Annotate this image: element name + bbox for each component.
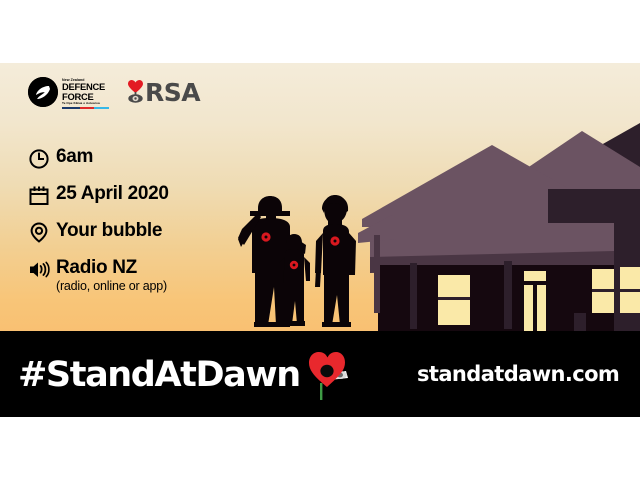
- info-label-location: Your bubble: [56, 220, 162, 241]
- poster: New Zealand DEFENCE FORCE Te Ope Kātua o…: [0, 63, 640, 417]
- speaker-icon: [28, 257, 54, 285]
- nz-defence-force-logo: New Zealand DEFENCE FORCE Te Ope Kātua o…: [28, 77, 109, 109]
- info-label-broadcast: Radio NZ: [56, 257, 167, 278]
- bottom-banner: #StandAtDawn standatdawn.com: [0, 335, 640, 417]
- event-details-list: 6am 25 April 2020: [28, 146, 169, 302]
- ndf-line-force: FORCE: [62, 92, 109, 101]
- info-sub-broadcast: (radio, online or app): [56, 279, 167, 293]
- rsa-wordmark: RSA: [145, 80, 200, 105]
- partner-logos: New Zealand DEFENCE FORCE Te Ope Kātua o…: [28, 77, 200, 109]
- suburban-house-silhouette: [352, 123, 640, 335]
- clock-icon: [28, 146, 54, 174]
- ndf-subtext: Te Ope Kātua o Aotearoa: [62, 101, 109, 106]
- kiwi-fern-disc-icon: [28, 77, 58, 107]
- location-pin-icon: [28, 220, 54, 248]
- campaign-hashtag: #StandAtDawn: [18, 356, 300, 394]
- rsa-logo: RSA: [127, 79, 200, 105]
- info-row-broadcast: Radio NZ (radio, online or app): [28, 257, 169, 293]
- info-label-time: 6am: [56, 146, 93, 167]
- website-url: standatdawn.com: [417, 362, 619, 386]
- poppy-flower-icon: [298, 349, 358, 401]
- info-row-time: 6am: [28, 146, 169, 174]
- woman-silhouette: [315, 195, 356, 327]
- hashtag-group: #StandAtDawn: [18, 349, 358, 401]
- poppy-heart-badge-icon: [127, 79, 144, 105]
- family-silhouettes: [228, 191, 360, 336]
- info-label-date: 25 April 2020: [56, 183, 169, 204]
- info-row-location: Your bubble: [28, 220, 169, 248]
- ndf-color-bars: [62, 107, 109, 109]
- calendar-icon: [28, 183, 54, 211]
- info-row-date: 25 April 2020: [28, 183, 169, 211]
